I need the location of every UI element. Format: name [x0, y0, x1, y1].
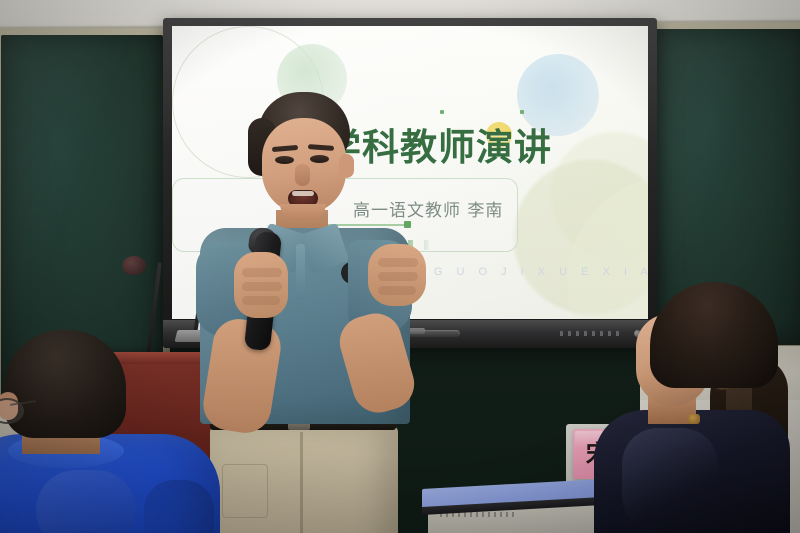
woman-jacket-sheen: [622, 428, 718, 532]
green-tick-icon: [440, 110, 444, 114]
woman-hair: [650, 282, 778, 388]
teacher-ear: [339, 154, 354, 178]
gooseneck-microphone-head: [122, 256, 146, 275]
teacher-teeth: [292, 191, 314, 196]
teacher-trousers-seam: [300, 432, 303, 533]
knuckle-line: [378, 286, 416, 295]
student-attendee-left: [0, 330, 232, 533]
teacher-shirt-placket: [296, 244, 305, 300]
teacher-eye-right: [310, 155, 329, 163]
student-hair: [4, 330, 126, 438]
classroom-photo-scene: 学科教师演讲 高一语文教师 李南 U Z H I G U O J I X U E…: [0, 0, 800, 533]
teacher-nose: [295, 164, 310, 186]
green-tick-icon: [520, 110, 524, 114]
knuckle-line: [242, 268, 282, 277]
knuckle-line: [378, 258, 418, 267]
knuckle-line: [242, 296, 280, 305]
jacket-fold: [144, 480, 214, 533]
teacher-eye-left: [275, 156, 294, 164]
knuckle-line: [242, 282, 282, 291]
knuckle-line: [378, 272, 418, 281]
woman-attendee-right: [600, 282, 800, 533]
collar-pin-icon: [688, 414, 700, 424]
jacket-fold: [36, 470, 136, 533]
